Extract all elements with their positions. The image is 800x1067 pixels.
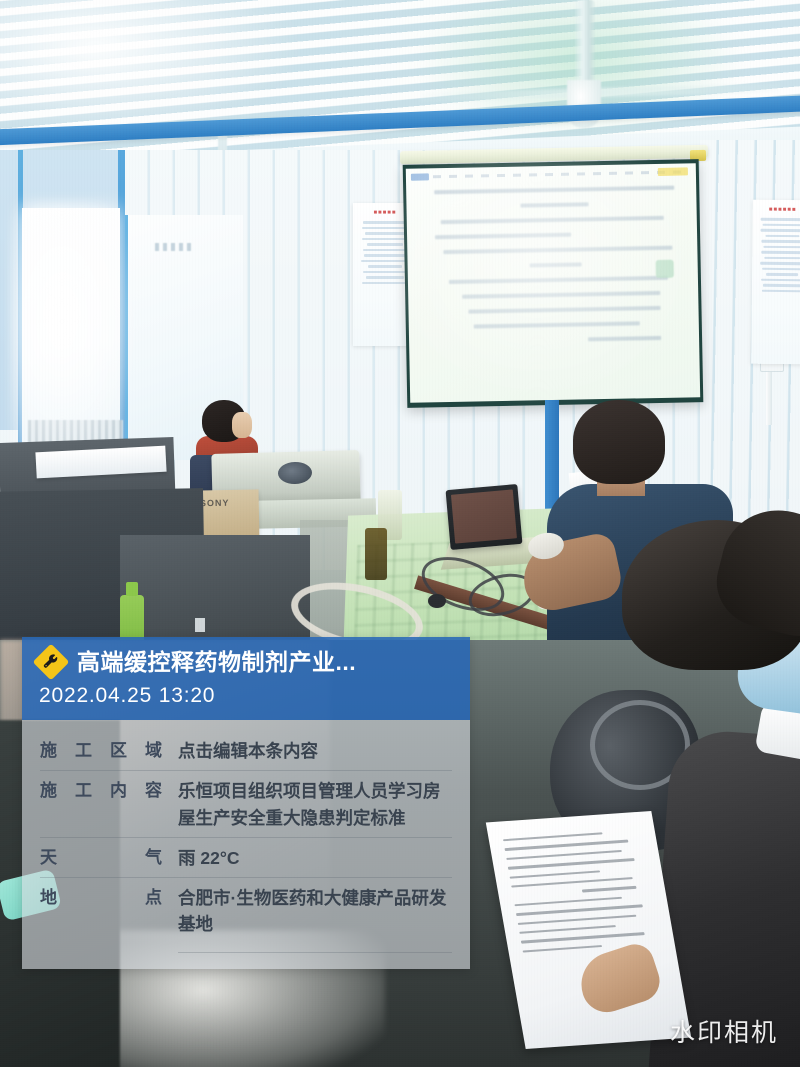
slide-seal	[656, 260, 674, 278]
slide-toolbar	[411, 167, 690, 181]
wrench-diamond-icon	[36, 647, 66, 677]
window-glare	[10, 200, 140, 470]
bottle-cap	[126, 582, 138, 596]
label-weather: 天气	[40, 845, 178, 871]
cabinet-label-tag	[195, 618, 205, 632]
blue-person-head	[573, 400, 665, 484]
label-construction-content: 施工内容	[40, 778, 178, 804]
slide-document-body	[424, 185, 688, 386]
laptop-display	[451, 489, 517, 543]
watermark-card-body: 施工区域 点击编辑本条内容 施工内容 乐恒项目组织项目管理人员学习房屋生产安全重…	[22, 720, 470, 969]
bottom-divider	[178, 952, 452, 953]
capture-datetime: 2022.04.25 13:20	[36, 684, 456, 708]
slide-badge	[658, 167, 688, 176]
microphone	[428, 594, 446, 608]
value-construction-content[interactable]: 乐恒项目组织项目管理人员学习房屋生产安全重大隐患判定标准	[178, 778, 452, 831]
watermark-info-card[interactable]: 高端缓控释药物制剂产业... 2022.04.25 13:20 施工区域 点击编…	[22, 637, 470, 969]
row-construction-area[interactable]: 施工区域 点击编辑本条内容	[40, 734, 452, 770]
watermark-card-header: 高端缓控释药物制剂产业... 2022.04.25 13:20	[22, 637, 470, 720]
project-title: 高端缓控释药物制剂产业...	[77, 649, 356, 675]
door-sign	[155, 243, 195, 251]
projection-screen	[403, 159, 704, 408]
seated-person-face	[232, 412, 252, 438]
laptop-screen	[446, 484, 523, 550]
row-construction-content[interactable]: 施工内容 乐恒项目组织项目管理人员学习房屋生产安全重大隐患判定标准	[40, 770, 452, 837]
label-construction-area: 施工区域	[40, 738, 178, 764]
jar-on-table	[365, 528, 387, 580]
value-construction-area[interactable]: 点击编辑本条内容	[178, 738, 452, 764]
person-foreground-masked	[600, 520, 800, 1067]
title-row: 高端缓控释药物制剂产业...	[36, 647, 456, 677]
slide-tab	[411, 173, 429, 180]
value-weather[interactable]: 雨 22°C	[178, 845, 452, 871]
poster-right-title: ■■■■■■	[769, 207, 797, 213]
row-location[interactable]: 地点 合肥市·生物医药和大健康产品研发基地	[40, 877, 452, 944]
slide-menu-bar	[433, 170, 689, 178]
poster-right-body	[758, 218, 800, 292]
row-weather[interactable]: 天气 雨 22°C	[40, 837, 452, 877]
projected-slide	[406, 163, 700, 403]
label-location: 地点	[40, 885, 178, 911]
value-location[interactable]: 合肥市·生物医药和大健康产品研发基地	[178, 885, 452, 938]
sony-box-label: SONY	[200, 498, 230, 509]
photo-canvas: ■■■■■ ■■■■■■	[0, 0, 800, 1067]
poster-left-title: ■■■■■	[373, 210, 396, 216]
app-brand-watermark: 水印相机	[670, 1013, 778, 1049]
wall-poster-right: ■■■■■■	[751, 200, 800, 365]
